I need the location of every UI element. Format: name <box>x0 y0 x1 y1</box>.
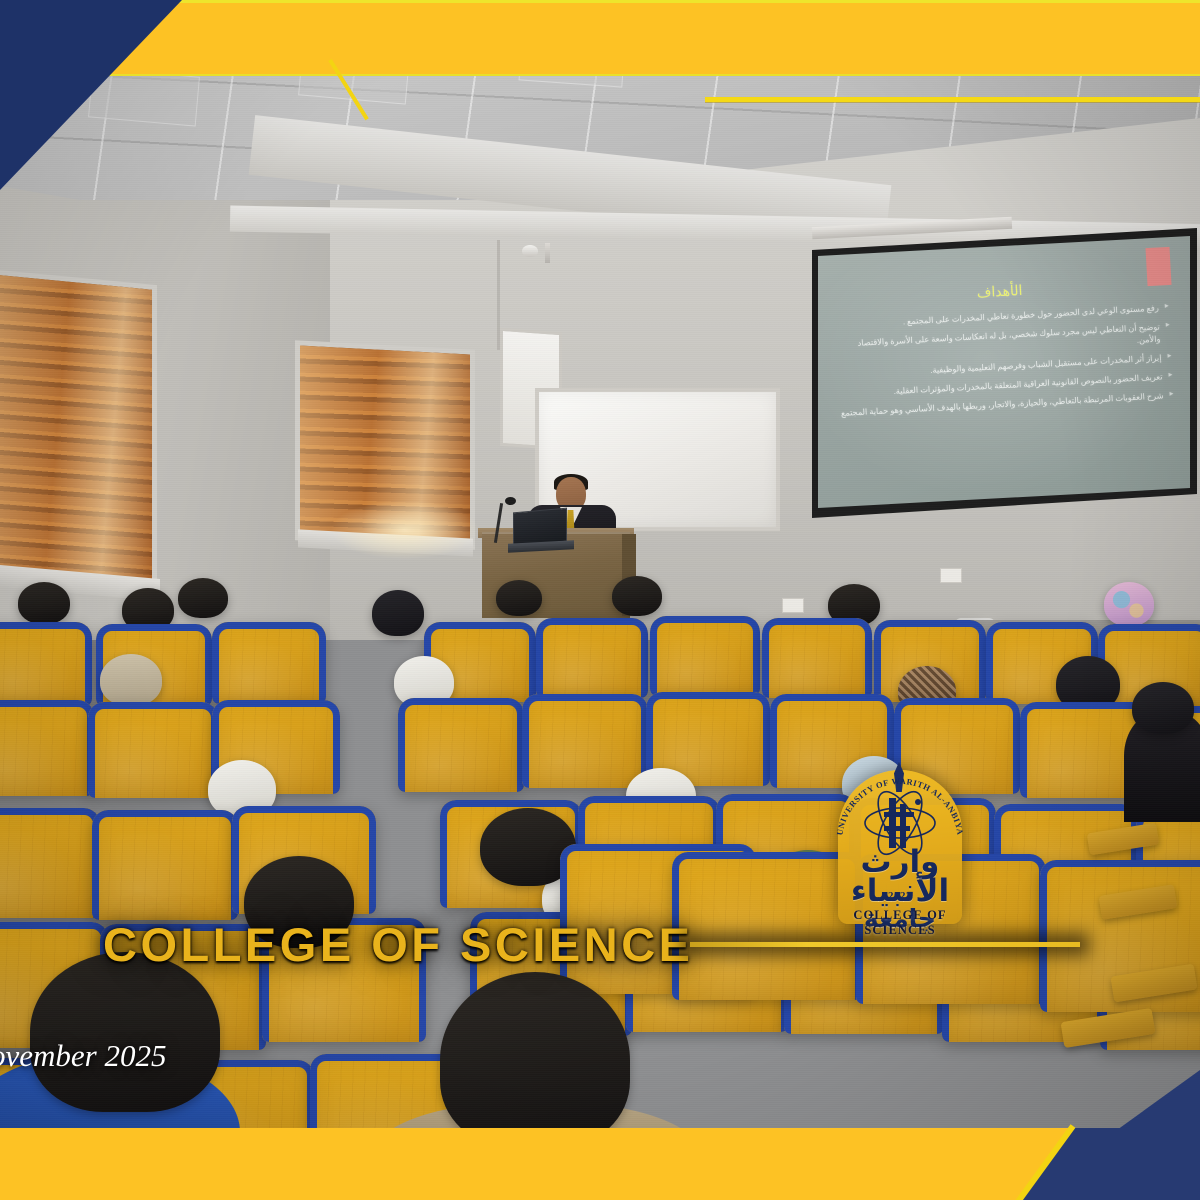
audience-head-foreground <box>30 952 220 1112</box>
auditorium-seat <box>650 616 760 696</box>
security-camera-icon <box>522 245 538 257</box>
frame-bottom-band <box>0 1128 1200 1200</box>
audience-head-foreground <box>440 972 630 1148</box>
logo-college-label: COLLEGE OF SCIENCES <box>816 908 984 938</box>
page-title: COLLEGE OF SCIENCE <box>103 917 694 972</box>
auditorium-seat <box>0 808 100 918</box>
audience-head <box>18 582 70 624</box>
poster-canvas: الأهداف رفع مستوى الوعي لدى الحضور حول خ… <box>0 0 1200 1200</box>
audience-head <box>496 580 542 616</box>
auditorium-seat <box>92 810 238 920</box>
audience-head <box>1104 582 1154 626</box>
window-light-glow <box>330 500 480 560</box>
event-photograph: الأهداف رفع مستوى الوعي لدى الحضور حول خ… <box>0 0 1200 1200</box>
frame-accent-line-right <box>705 97 1200 102</box>
auditorium-seat <box>88 702 218 798</box>
university-logo: UNIVERSITY OF WARITH AL-ANBIYA <box>816 762 984 932</box>
projector-hotspot <box>818 236 1190 508</box>
auditorium-seat <box>0 700 94 796</box>
audience-head <box>178 578 228 618</box>
auditorium-seat <box>212 622 326 704</box>
auditorium-seat <box>522 694 648 788</box>
sprinkler-head-icon <box>545 243 550 263</box>
auditorium-seat <box>0 622 92 706</box>
frame-top-hairline <box>150 0 1200 3</box>
title-underline-rule <box>690 942 1080 947</box>
audience-head <box>612 576 662 616</box>
logo-year: 2023 <box>888 890 912 902</box>
frame-top-band <box>0 0 1200 76</box>
window-left-1 <box>0 274 152 589</box>
microphone-head <box>505 497 516 505</box>
event-date: ovember 2025 <box>0 1038 166 1074</box>
auditorium-seating <box>0 560 1200 1200</box>
audience-head <box>372 590 424 636</box>
audience-head <box>1132 682 1194 734</box>
audience-head <box>100 654 162 706</box>
projection-screen: الأهداف رفع مستوى الوعي لدى الحضور حول خ… <box>818 236 1190 508</box>
auditorium-seat <box>762 618 872 698</box>
auditorium-seat <box>536 618 648 698</box>
wooden-blinds <box>0 274 152 589</box>
auditorium-seat <box>398 698 524 792</box>
